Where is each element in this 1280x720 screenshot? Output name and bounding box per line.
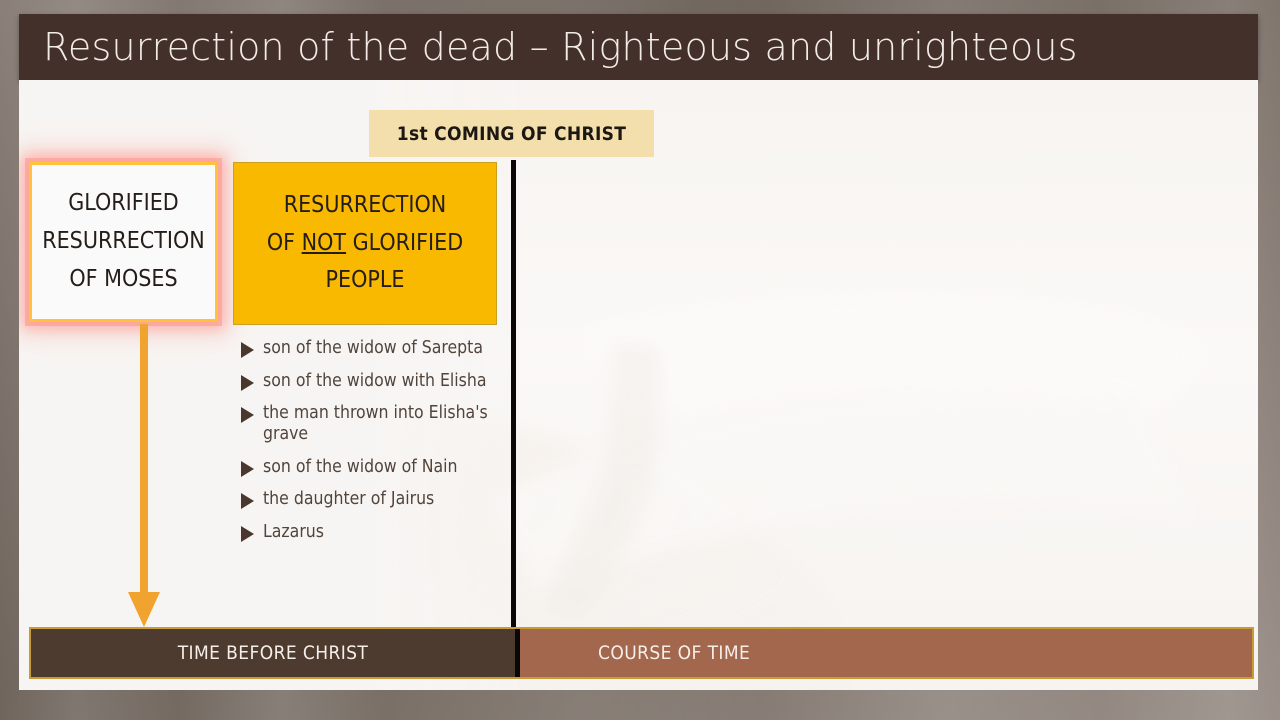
list-item: son of the widow of Sarepta — [241, 338, 503, 359]
timeline-segment-before-christ: TIME BEFORE CHRIST — [31, 629, 515, 677]
timeline-bar: TIME BEFORE CHRIST COURSE OF TIME — [29, 627, 1254, 679]
slide-title-bar: Resurrection of the dead – Righteous and… — [19, 14, 1258, 80]
not-glorified-emphasis: NOT — [302, 230, 346, 256]
resurrection-examples-list: son of the widow of Sarepta son of the w… — [241, 338, 503, 554]
slide-canvas: 1st COMING OF CHRIST GLORIFIED RESURRECT… — [19, 80, 1258, 690]
triangle-right-icon — [241, 493, 254, 509]
list-item: the daughter of Jairus — [241, 489, 503, 510]
list-item-label: the man thrown into Elisha's grave — [263, 403, 503, 444]
triangle-right-icon — [241, 461, 254, 477]
timeline-vertical-divider — [511, 160, 516, 627]
down-arrow-icon — [118, 324, 170, 631]
list-item-label: son of the widow of Sarepta — [263, 338, 483, 359]
triangle-right-icon — [241, 526, 254, 542]
list-item-label: son of the widow with Elisha — [263, 371, 487, 392]
list-item: Lazarus — [241, 522, 503, 543]
glorified-resurrection-label: GLORIFIED RESURRECTION OF MOSES — [42, 185, 205, 299]
timeline-segment-course-of-time: COURSE OF TIME — [520, 629, 1252, 677]
glorified-resurrection-box: GLORIFIED RESURRECTION OF MOSES — [29, 162, 218, 322]
timeline-before-christ-label: TIME BEFORE CHRIST — [178, 642, 369, 664]
list-item: son of the widow of Nain — [241, 457, 503, 478]
list-item-label: son of the widow of Nain — [263, 457, 458, 478]
triangle-right-icon — [241, 407, 254, 423]
list-item-label: Lazarus — [263, 522, 324, 543]
list-item: the man thrown into Elisha's grave — [241, 403, 503, 444]
not-glorified-line-2-before: OF — [267, 230, 302, 256]
first-coming-label: 1st COMING OF CHRIST — [397, 123, 626, 145]
not-glorified-line-3: PEOPLE — [326, 267, 405, 293]
not-glorified-line-2-after: GLORIFIED — [346, 230, 463, 256]
list-item: son of the widow with Elisha — [241, 371, 503, 392]
timeline-course-of-time-label: COURSE OF TIME — [598, 642, 750, 664]
list-item-label: the daughter of Jairus — [263, 489, 434, 510]
triangle-right-icon — [241, 375, 254, 391]
first-coming-banner: 1st COMING OF CHRIST — [369, 110, 654, 157]
triangle-right-icon — [241, 342, 254, 358]
not-glorified-resurrection-label: RESURRECTION OF NOT GLORIFIED PEOPLE — [267, 187, 463, 301]
page-title: Resurrection of the dead – Righteous and… — [43, 25, 1078, 69]
slide-stage: Resurrection of the dead – Righteous and… — [0, 0, 1280, 720]
not-glorified-resurrection-box: RESURRECTION OF NOT GLORIFIED PEOPLE — [233, 162, 497, 325]
not-glorified-line-1: RESURRECTION — [284, 192, 447, 218]
